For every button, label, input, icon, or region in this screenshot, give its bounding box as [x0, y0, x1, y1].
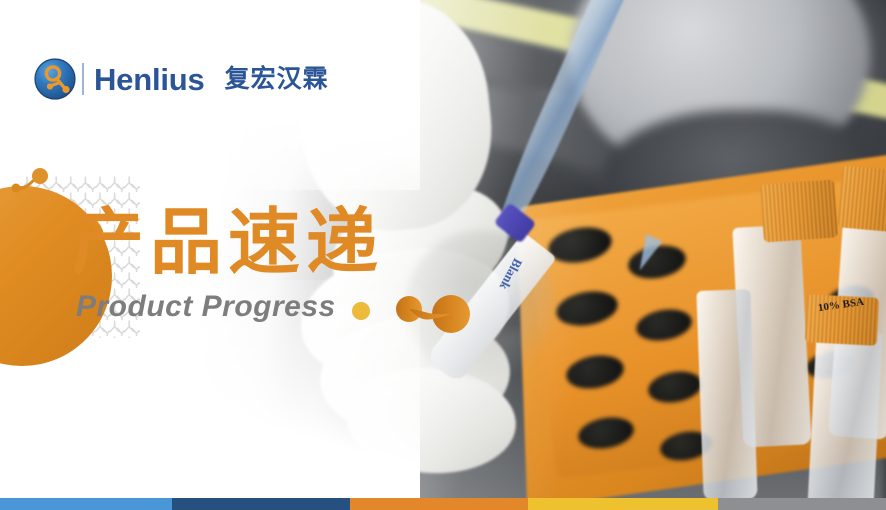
color-bar-segment-orange — [350, 498, 528, 510]
orange-molecule-mark — [10, 166, 56, 202]
color-bar-segment-gray — [718, 498, 886, 510]
slide-subtitle-english: Product Progress — [76, 292, 336, 322]
bottom-brand-color-bar — [0, 498, 886, 510]
orange-dumbbell-molecule — [396, 292, 470, 334]
henlius-circular-molecule-logo-icon — [34, 58, 76, 100]
yellow-dot — [352, 302, 370, 320]
henlius-logo[interactable]: Henlius 复宏汉霖 — [34, 56, 329, 102]
slide-title-chinese: 产品速递 — [72, 207, 384, 279]
logo-chinese-name: 复宏汉霖 — [225, 67, 329, 92]
color-bar-segment-light-blue — [0, 498, 172, 510]
color-bar-segment-dark-blue — [172, 498, 350, 510]
logo-english-name: Henlius — [94, 64, 205, 95]
cover-slide: 10% BSA Blank — [0, 0, 886, 510]
logo-divider — [82, 63, 84, 95]
color-bar-segment-yellow — [528, 498, 718, 510]
